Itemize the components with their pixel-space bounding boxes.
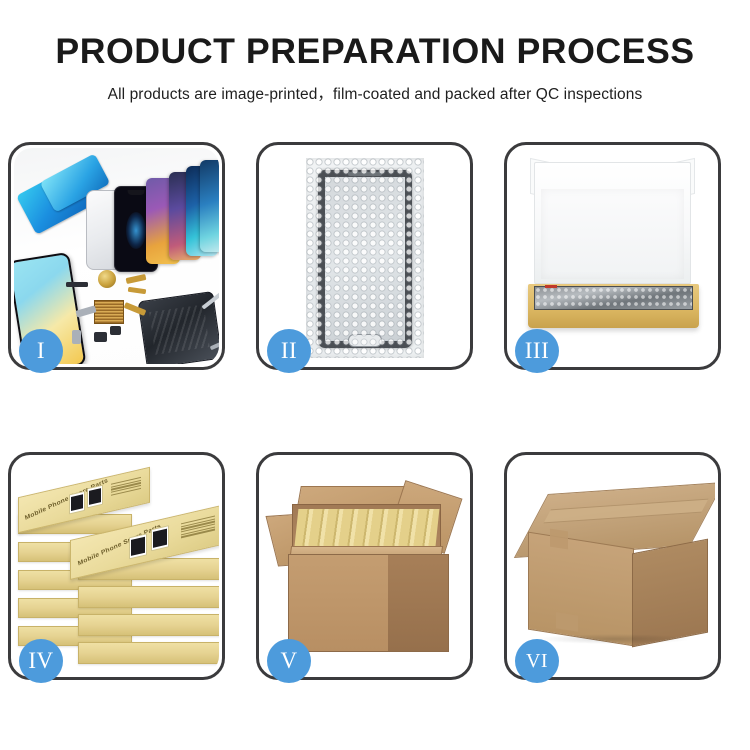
box-phone-thumb-icon [151,525,169,551]
red-label-icon [545,285,557,288]
box-spec-lines [181,516,215,538]
step-panel-5[interactable]: V [256,452,473,680]
step-badge-1: I [19,329,63,373]
carton-front-face [528,532,634,647]
tape-tab-upper-icon [550,529,568,550]
retail-box [78,642,219,664]
box-phone-thumb-icon [69,491,85,515]
taptic-engine-icon [94,332,107,342]
step-badge-3: III [515,329,559,373]
phone-notch-icon [128,190,145,195]
camera-module-icon [110,326,121,335]
open-carton-icon [288,554,449,652]
bubble-wrap-sheet-icon [306,158,424,358]
speaker-part-icon [66,282,88,287]
box-phone-thumb-icon [87,485,103,509]
step-badge-6: VI [515,639,559,683]
step-panel-6[interactable]: VI [504,452,721,680]
carton-side-face [632,539,708,648]
tape-tab-lower-icon [556,612,578,631]
bubble-texture-overlay [306,158,424,358]
wrapped-screen-in-box-icon [534,286,693,310]
process-steps-grid: I II III [8,142,742,680]
step-badge-5: V [267,639,311,683]
retail-box-stack: Mobile Phone Spare Parts Mobile Phone Sp… [18,472,219,668]
step-panel-2[interactable]: II [256,142,473,370]
sealed-carton-icon [528,488,706,638]
page-title: PRODUCT PREPARATION PROCESS [0,34,750,71]
chip-array-icon [94,300,124,324]
step-panel-4[interactable]: Mobile Phone Spare Parts Mobile Phone Sp… [8,452,225,680]
page-header: PRODUCT PREPARATION PROCESS All products… [0,0,750,104]
teal-phone-icon [200,160,219,252]
kraft-box-base-icon [528,284,699,328]
carton-front-face [289,555,388,651]
wireless-coil-icon [98,270,116,288]
step-badge-2: II [267,329,311,373]
page-subtitle: All products are image-printed，film-coat… [0,82,750,104]
step-panel-1[interactable]: I [8,142,225,370]
step-badge-4: IV [19,639,63,683]
box-phone-thumb-icon [129,533,147,559]
carton-shadow [538,634,690,644]
foam-lid-icon [534,162,691,284]
carton-side-face [388,555,448,651]
retail-box [78,614,219,636]
retail-box [78,586,219,608]
step-panel-3[interactable]: III [504,142,721,370]
box-spec-lines [111,477,141,496]
sim-tray-icon [72,330,81,344]
